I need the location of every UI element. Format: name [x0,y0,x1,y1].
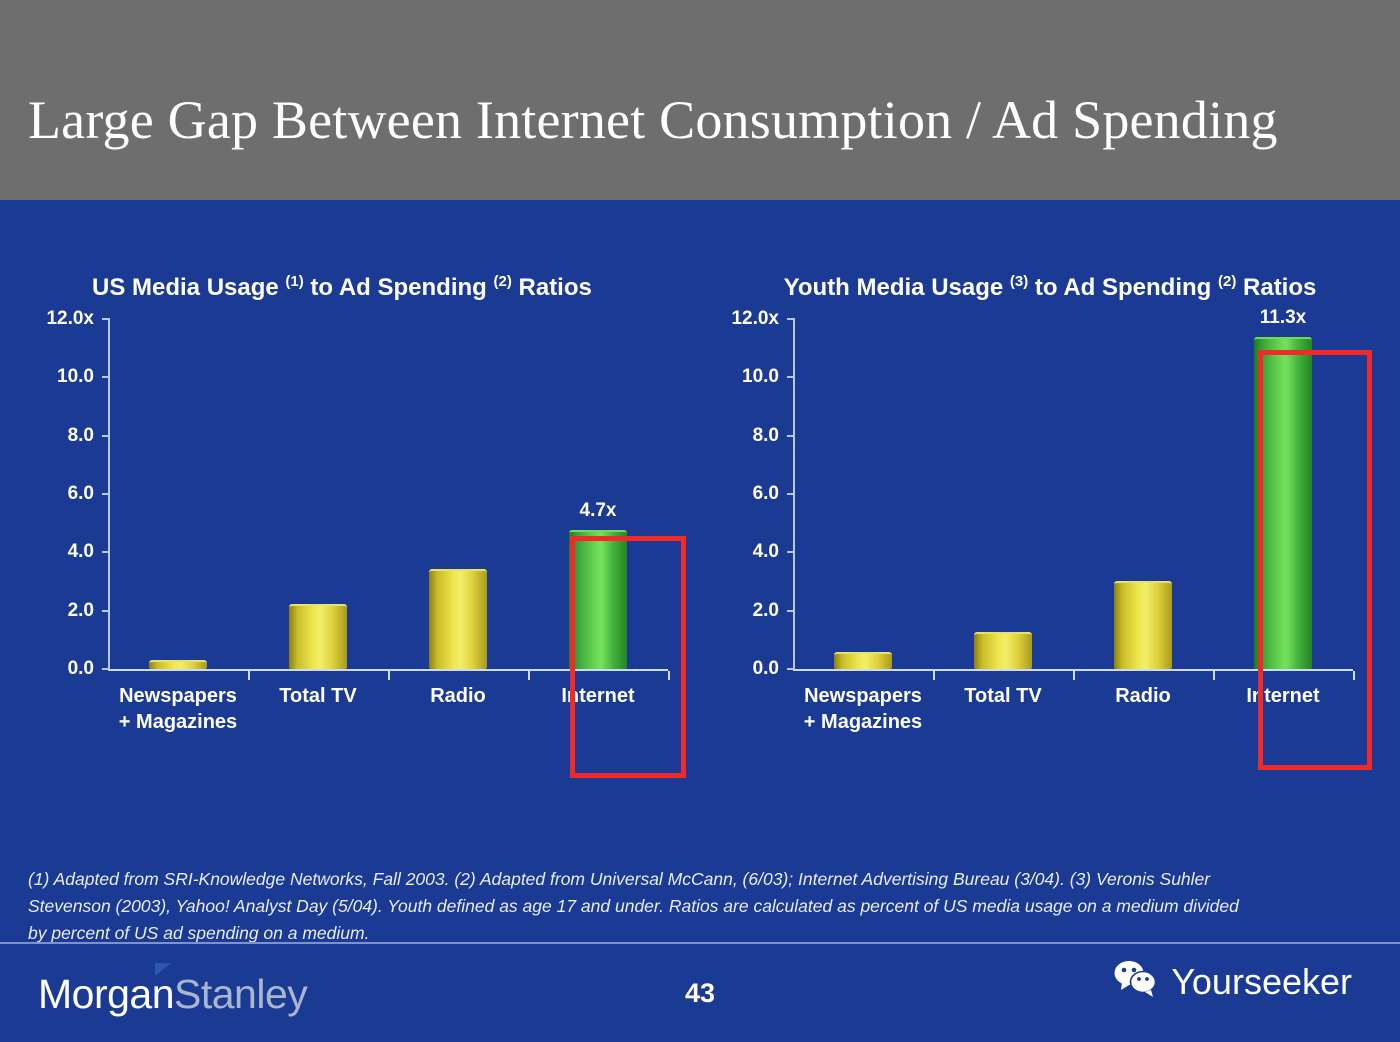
y-axis-tick-mark [102,435,110,437]
y-axis-tick-mark [787,435,795,437]
category-label: Internet [1213,683,1353,709]
bar-value-label: 4.7x [580,500,617,522]
y-axis-tick-mark [787,493,795,495]
y-axis-tick-mark [787,610,795,612]
bar [289,604,347,669]
y-axis-tick-label: 6.0 [753,483,779,505]
category-label: Newspapers+ Magazines [793,683,933,735]
bar [569,530,627,669]
x-axis-tick-mark [1213,671,1215,680]
y-axis-tick-mark [787,668,795,670]
chart-title-youth-media: Youth Media Usage (3) to Ad Spending (2)… [705,270,1395,305]
bars-us-media: 4.7x [108,319,668,669]
bar [1254,337,1312,669]
bar-slot [388,319,528,669]
y-axis-tick-mark [102,610,110,612]
y-axis-tick-label: 2.0 [68,600,94,622]
chart-panel-youth-media: Youth Media Usage (3) to Ad Spending (2)… [705,270,1395,810]
category-label: Internet [528,683,668,709]
bar-slot: 11.3x [1213,319,1353,669]
chart-title-part-b: to Ad Spending [304,274,494,301]
bar-slot [933,319,1073,669]
y-axis-tick-mark [102,668,110,670]
chart-title-part-b: to Ad Spending [1028,274,1218,301]
watermark-text: Yourseeker [1171,963,1352,1001]
y-axis-tick-label: 4.0 [753,541,779,563]
y-axis-tick-label: 10.0 [742,366,779,388]
category-labels-us-media: Newspapers+ MagazinesTotal TVRadioIntern… [108,683,668,753]
category-label-line: Internet [1213,683,1353,709]
y-axis-tick-mark [102,551,110,553]
y-axis-tick-label: 12.0x [731,308,779,330]
category-label: Newspapers+ Magazines [108,683,248,735]
category-label-line: Internet [528,683,668,709]
y-axis-tick-label: 8.0 [753,425,779,447]
bars-youth-media: 11.3x [793,319,1353,669]
bar-slot [793,319,933,669]
wechat-icon [1113,960,1159,1003]
bar [429,569,487,669]
chart-title-part-c: Ratios [512,274,592,301]
category-label-line: + Magazines [108,709,248,735]
y-axis-tick-label: 2.0 [753,600,779,622]
footnote-ref-3: (3) [1010,273,1028,290]
footnotes: (1) Adapted from SRI-Knowledge Networks,… [28,866,1376,947]
category-label: Total TV [248,683,388,709]
category-label-line: + Magazines [793,709,933,735]
x-axis-tick-mark [388,671,390,680]
y-axis-tick-mark [102,376,110,378]
footnote-ref-2: (2) [1218,273,1236,290]
morgan-stanley-triangle-icon [155,963,171,976]
x-axis-tick-mark [1353,671,1355,680]
x-axis-tick-mark [668,671,670,680]
plot-area-us-media: 12.0x10.08.06.04.02.00.0 4.7x Newspapers… [20,319,710,739]
category-label: Total TV [933,683,1073,709]
y-axis-youth-media: 12.0x10.08.06.04.02.00.0 [705,319,793,669]
chart-panel-us-media: US Media Usage (1) to Ad Spending (2) Ra… [20,270,710,810]
chart-title-part-a: US Media Usage [92,274,285,301]
y-axis-tick-mark [787,376,795,378]
bar-slot [108,319,248,669]
category-label: Radio [388,683,528,709]
footnote-line-1: (1) Adapted from SRI-Knowledge Networks,… [28,866,1376,893]
category-label-line: Total TV [933,683,1073,709]
bar-slot [248,319,388,669]
bar [974,632,1032,669]
y-axis-tick-label: 0.0 [753,658,779,680]
slide: Large Gap Between Internet Consumption /… [0,0,1400,1042]
y-axis-tick-label: 0.0 [68,658,94,680]
y-axis-tick-label: 6.0 [68,483,94,505]
x-axis-tick-mark [248,671,250,680]
category-labels-youth-media: Newspapers+ MagazinesTotal TVRadioIntern… [793,683,1353,753]
y-axis-tick-label: 8.0 [68,425,94,447]
chart-title-us-media: US Media Usage (1) to Ad Spending (2) Ra… [20,270,710,305]
footnote-ref-1: (1) [285,273,303,290]
y-axis-tick-mark [102,318,110,320]
category-label-line: Newspapers [793,683,933,709]
y-axis-tick-mark [787,551,795,553]
x-axis-tick-mark [933,671,935,680]
category-label: Radio [1073,683,1213,709]
x-axis-tick-mark [1073,671,1075,680]
footnote-ref-2: (2) [494,273,512,290]
bar [1114,581,1172,669]
bar [149,660,207,669]
footnote-line-2: Stevenson (2003), Yahoo! Analyst Day (5/… [28,893,1376,920]
y-axis-tick-mark [102,493,110,495]
y-axis-tick-mark [787,318,795,320]
bar-value-label: 11.3x [1260,307,1307,329]
category-label-line: Radio [1073,683,1213,709]
y-axis-tick-label: 12.0x [46,308,94,330]
x-axis-tick-mark [528,671,530,680]
y-axis-us-media: 12.0x10.08.06.04.02.00.0 [20,319,108,669]
watermark: Yourseeker [1113,960,1352,1003]
y-axis-tick-label: 10.0 [57,366,94,388]
category-label-line: Total TV [248,683,388,709]
category-label-line: Newspapers [108,683,248,709]
chart-title-part-a: Youth Media Usage [784,274,1010,301]
chart-title-part-c: Ratios [1236,274,1316,301]
footer-separator [0,942,1400,944]
plot-area-youth-media: 12.0x10.08.06.04.02.00.0 11.3x Newspaper… [705,319,1395,739]
page-title: Large Gap Between Internet Consumption /… [28,88,1278,152]
bar [834,652,892,669]
bar-slot: 4.7x [528,319,668,669]
bar-slot [1073,319,1213,669]
y-axis-tick-label: 4.0 [68,541,94,563]
category-label-line: Radio [388,683,528,709]
